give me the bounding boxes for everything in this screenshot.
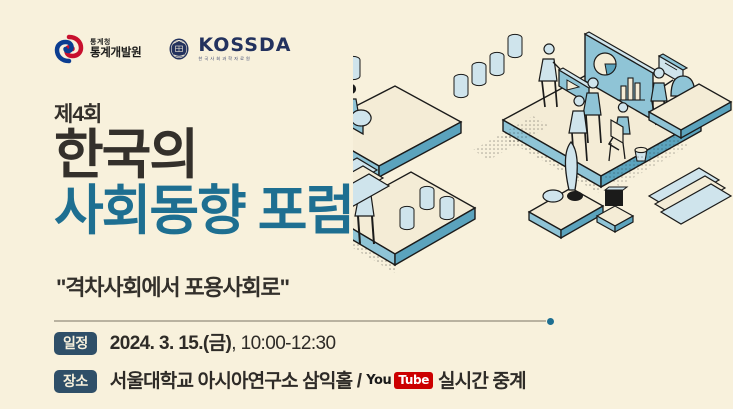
- kossda-subtext: 한국사회과학자료원: [198, 57, 291, 61]
- schedule-row: 일정 2024. 3. 15.(금) , 10:00-12:30: [54, 332, 335, 355]
- youtube-tube-badge: Tube: [394, 372, 433, 389]
- venue-stream-label: 실시간 중계: [438, 372, 526, 391]
- subtitle: "격차사회에서 포용사회로": [56, 270, 289, 302]
- edition-label: 제4회: [54, 104, 353, 125]
- venue-place: 서울대학교 아시아연구소 삼익홀 /: [110, 372, 361, 391]
- agency-small-label: 통계청: [90, 39, 141, 46]
- youtube-logo: You Tube: [366, 372, 433, 389]
- divider-rule: [54, 320, 546, 322]
- logo-row: 통계청 통계개발원 KOSSDA 한국사회과학자료원: [54, 34, 291, 64]
- title-line-1: 한국의: [54, 129, 353, 182]
- schedule-date: 2024. 3. 15.(금): [110, 334, 232, 353]
- agency-name-label: 통계개발원: [90, 48, 141, 60]
- schedule-value: 2024. 3. 15.(금) , 10:00-12:30: [110, 334, 336, 353]
- government-logo: 통계청 통계개발원: [54, 34, 141, 64]
- venue-badge: 장소: [54, 370, 97, 393]
- venue-value: 서울대학교 아시아연구소 삼익홀 / You Tube 실시간 중계: [110, 372, 526, 391]
- venue-row: 장소 서울대학교 아시아연구소 삼익홀 / You Tube 실시간 중계: [54, 370, 526, 393]
- youtube-you-text: You: [366, 374, 391, 387]
- divider-end-dot: [547, 318, 554, 325]
- isometric-office-statistics-illustration: [353, 0, 733, 300]
- kossda-wordmark: KOSSDA: [198, 36, 291, 55]
- title-line-2: 사회동향 포럼: [54, 184, 353, 239]
- university-seal-icon: [167, 37, 191, 61]
- schedule-time: , 10:00-12:30: [231, 334, 335, 353]
- divider: [54, 318, 554, 323]
- taeguk-icon: [54, 34, 84, 64]
- headline-block: 제4회 한국의 사회동향 포럼: [54, 104, 353, 239]
- schedule-badge: 일정: [54, 332, 97, 355]
- forum-poster: 통계청 통계개발원 KOSSDA 한국사회과학자료원: [0, 0, 733, 409]
- kossda-logo: KOSSDA 한국사회과학자료원: [167, 36, 291, 61]
